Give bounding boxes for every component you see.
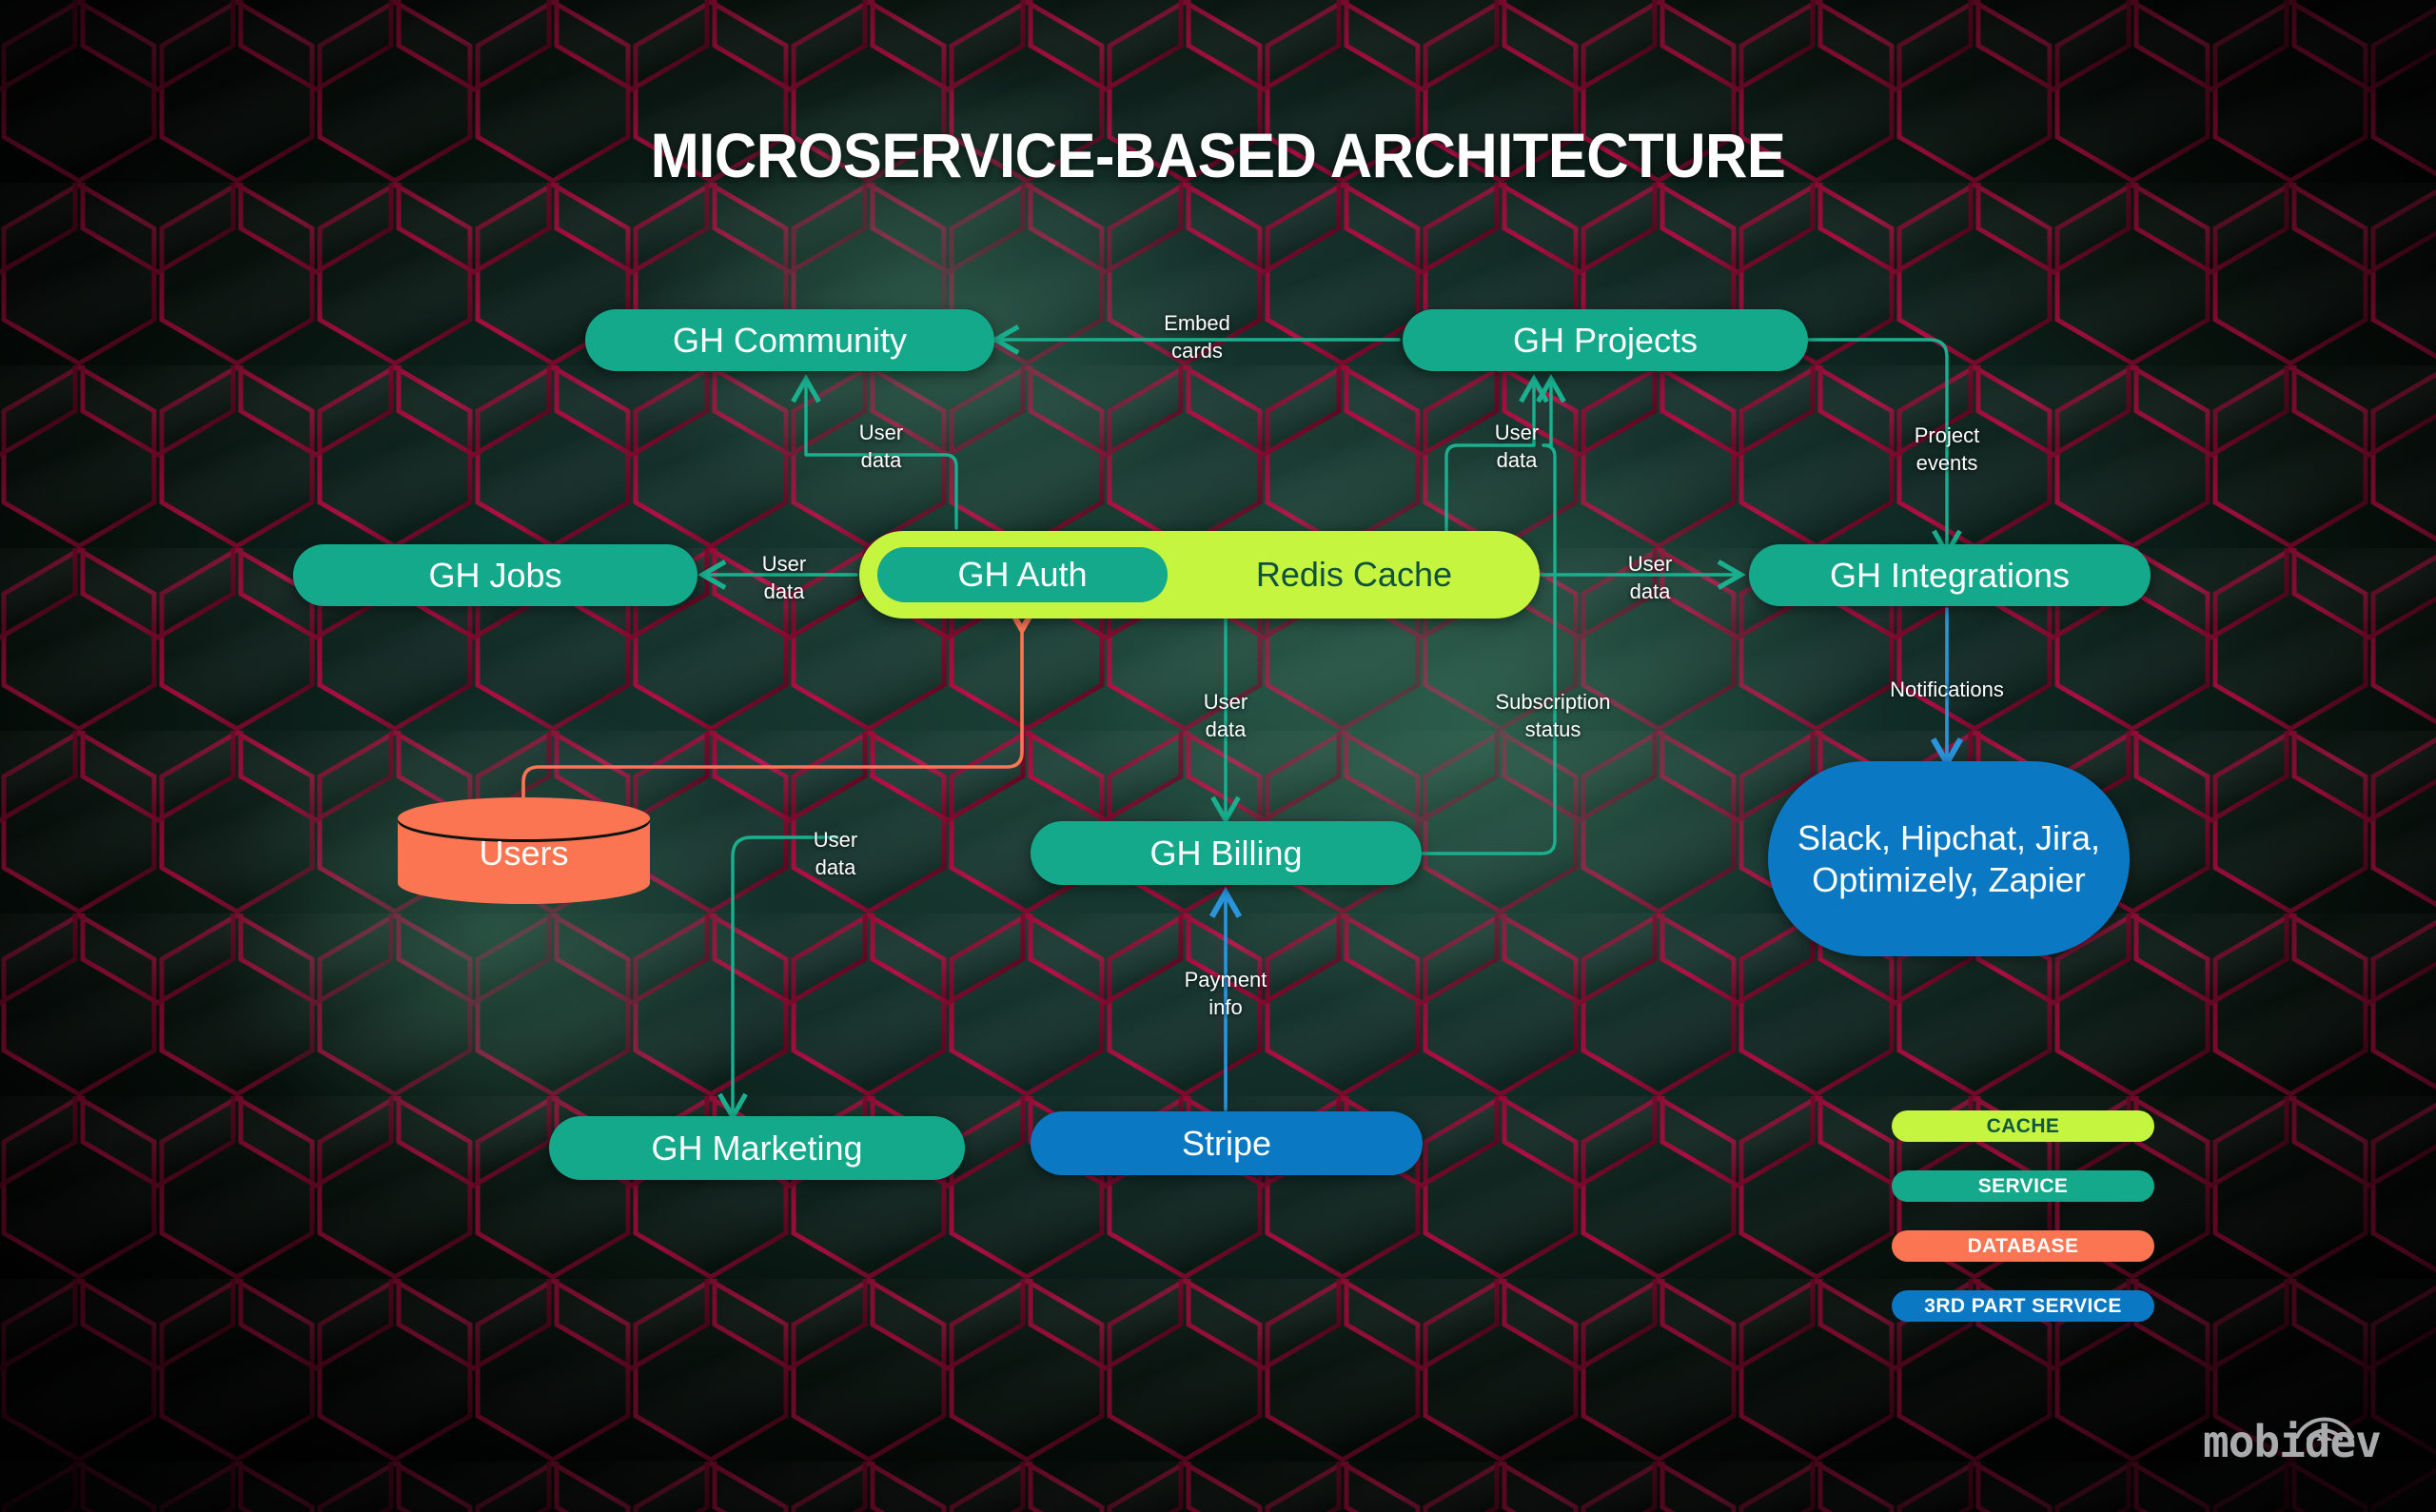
node-stripe[interactable]: Stripe xyxy=(1031,1111,1423,1175)
edge-label-subscription-status: Subscription status xyxy=(1495,688,1610,743)
node-label: GH Projects xyxy=(1513,320,1698,362)
legend-item-database: DATABASE xyxy=(1892,1230,2154,1262)
edge-label-user-data-jobs: User data xyxy=(762,550,806,605)
node-label: GH Jobs xyxy=(428,555,561,597)
node-label: Stripe xyxy=(1182,1123,1271,1165)
node-gh-marketing[interactable]: GH Marketing xyxy=(549,1116,965,1180)
legend-label: CACHE xyxy=(1987,1115,2060,1138)
node-gh-projects[interactable]: GH Projects xyxy=(1403,309,1808,371)
legend-label: 3RD PART SERVICE xyxy=(1924,1295,2122,1318)
node-label: Redis Cache xyxy=(1256,554,1452,596)
node-label: GH Community xyxy=(673,320,907,362)
mobidev-logo: mobidev xyxy=(2203,1420,2403,1479)
edge-label-user-data-marketing: User data xyxy=(814,826,857,881)
legend: CACHE SERVICE DATABASE 3RD PART SERVICE xyxy=(1892,1110,2154,1350)
node-third-party-services[interactable]: Slack, Hipchat, Jira, Optimizely, Zapier xyxy=(1768,761,2130,956)
node-gh-auth[interactable]: GH Auth xyxy=(877,547,1168,602)
edge-label-notifications: Notifications xyxy=(1890,676,2004,703)
edge-label-user-data-integrations: User data xyxy=(1628,550,1672,605)
edge-label-user-data-projects: User data xyxy=(1495,419,1539,474)
page-title: MICROSERVICE-BASED ARCHITECTURE xyxy=(86,119,2351,191)
node-label: GH Marketing xyxy=(651,1128,862,1169)
legend-item-service: SERVICE xyxy=(1892,1170,2154,1202)
legend-label: DATABASE xyxy=(1968,1235,2079,1258)
node-label: GH Auth xyxy=(957,555,1087,595)
node-users-database[interactable]: Users xyxy=(398,797,650,904)
edge-label-embed-cards: Embed cards xyxy=(1164,309,1230,364)
legend-item-cache: CACHE xyxy=(1892,1110,2154,1142)
node-label: GH Billing xyxy=(1149,833,1302,874)
edge-label-user-data-billing: User data xyxy=(1204,688,1247,743)
node-label: Slack, Hipchat, Jira, Optimizely, Zapier xyxy=(1793,817,2105,901)
edge-label-payment-info: Payment info xyxy=(1185,966,1267,1021)
wifi-arc-icon xyxy=(2294,1416,2355,1441)
node-gh-billing[interactable]: GH Billing xyxy=(1031,821,1422,885)
node-label: Users xyxy=(398,834,650,874)
node-label: GH Integrations xyxy=(1830,555,2070,597)
node-gh-integrations[interactable]: GH Integrations xyxy=(1749,544,2151,606)
legend-label: SERVICE xyxy=(1978,1175,2069,1198)
architecture-diagram-canvas: MICROSERVICE-BASED ARCHITECTURE xyxy=(0,0,2436,1512)
edge-label-user-data-community: User data xyxy=(859,419,903,474)
edge-label-project-events: Project events xyxy=(1915,422,1979,477)
node-gh-jobs[interactable]: GH Jobs xyxy=(293,544,697,606)
legend-item-third-party: 3RD PART SERVICE xyxy=(1892,1290,2154,1322)
node-gh-community[interactable]: GH Community xyxy=(585,309,994,371)
